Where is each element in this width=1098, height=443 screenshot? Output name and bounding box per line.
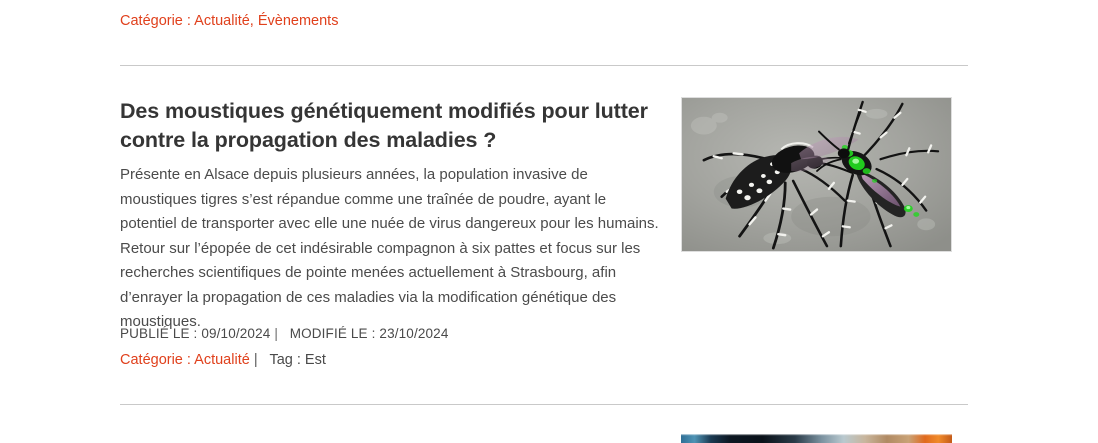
next-article-thumbnail[interactable]: [681, 434, 952, 443]
published-date: 09/10/2024: [201, 326, 270, 341]
article-title: Des moustiques génétiquement modifiés po…: [120, 97, 685, 154]
mosquito-photo: [682, 98, 951, 251]
article-title-link[interactable]: Des moustiques génétiquement modifiés po…: [120, 99, 648, 152]
article-list-page: Catégorie : Actualité, Évènements Des mo…: [0, 0, 1098, 443]
divider-top: [120, 65, 968, 66]
category-tag-separator: |: [254, 352, 258, 368]
modified-label: MODIFIÉ LE :: [290, 326, 376, 341]
article-item: Des moustiques génétiquement modifiés po…: [0, 97, 1098, 397]
meta-separator: |: [274, 326, 278, 341]
tag-label: Tag :: [269, 352, 300, 368]
article-category-link[interactable]: Actualité: [194, 352, 250, 368]
published-label: PUBLIÉ LE :: [120, 326, 197, 341]
article-dates: PUBLIÉ LE : 09/10/2024 | MODIFIÉ LE : 23…: [120, 325, 449, 343]
article-thumbnail[interactable]: [681, 97, 952, 252]
category-label: Catégorie :: [120, 13, 191, 29]
previous-article-category-line: Catégorie : Actualité, Évènements: [120, 12, 338, 30]
article-taxonomy-line: Catégorie : Actualité | Tag : Est: [120, 351, 326, 369]
article-tag-link[interactable]: Est: [305, 352, 326, 368]
landscape-photo-strip: [681, 434, 952, 443]
article-excerpt: Présente en Alsace depuis plusieurs anné…: [120, 163, 665, 335]
category-label: Catégorie :: [120, 352, 191, 368]
divider-bottom: [120, 404, 968, 405]
modified-date: 23/10/2024: [379, 326, 448, 341]
previous-article-category-links[interactable]: Actualité, Évènements: [194, 13, 338, 29]
